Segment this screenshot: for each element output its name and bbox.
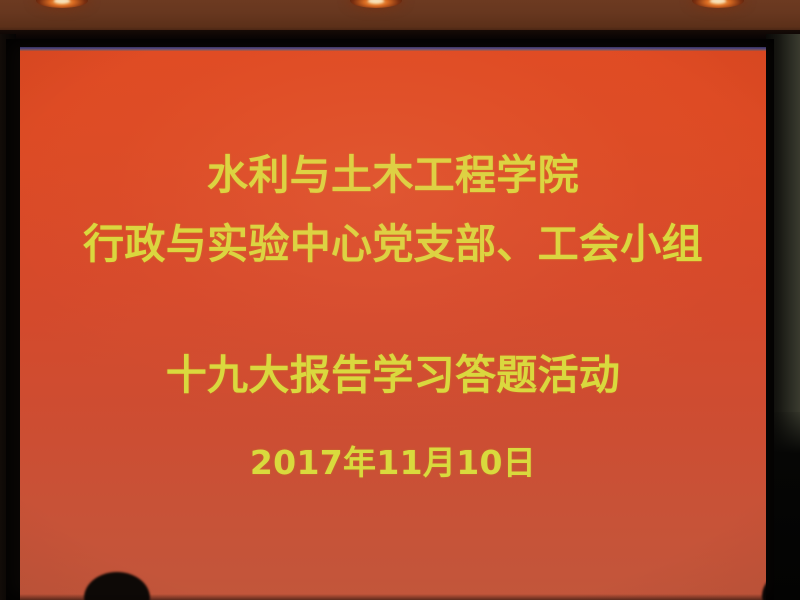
- slide-date: 2017年11月10日: [20, 442, 766, 484]
- ceiling-downlight-right-icon: [692, 0, 744, 8]
- presentation-slide: 水利与土木工程学院 行政与实验中心党支部、工会小组 十九大报告学习答题活动 20…: [20, 47, 766, 600]
- downlight-bulb: [368, 0, 384, 4]
- ceiling: [0, 0, 800, 34]
- downlight-bulb: [710, 0, 726, 4]
- projector-light-falloff: [20, 47, 766, 600]
- slide-event-title: 十九大报告学习答题活动: [20, 350, 766, 400]
- projected-slide-photo: 水利与土木工程学院 行政与实验中心党支部、工会小组 十九大报告学习答题活动 20…: [0, 0, 800, 600]
- slide-title-line-1: 水利与土木工程学院: [20, 150, 766, 200]
- slide-bottom-shadow: [20, 594, 766, 600]
- ceiling-downlight-left-icon: [36, 0, 88, 8]
- slide-title-line-2: 行政与实验中心党支部、工会小组: [20, 219, 766, 269]
- projector-scanline: [20, 47, 766, 51]
- downlight-bulb: [54, 0, 70, 4]
- ceiling-downlight-center-icon: [350, 0, 402, 8]
